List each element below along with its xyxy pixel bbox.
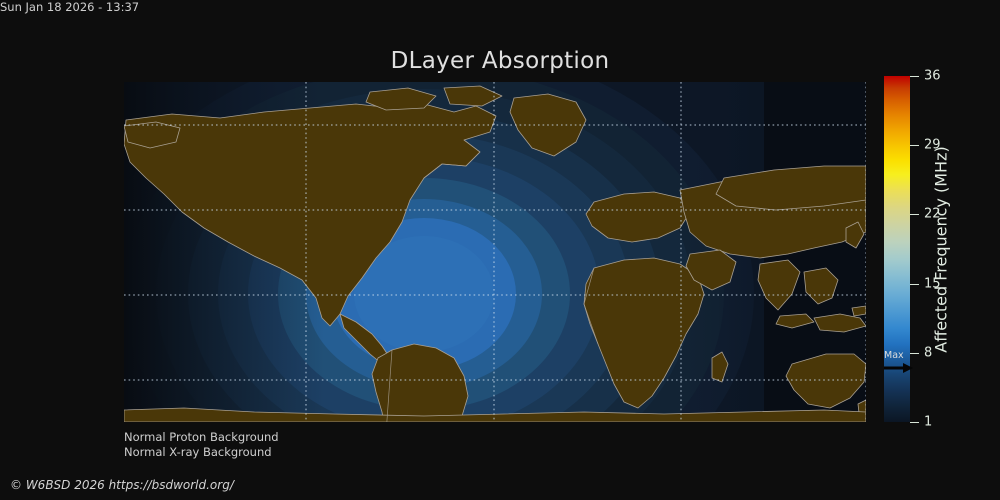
arrow-right-icon xyxy=(883,362,913,374)
page-title: DLayer Absorption xyxy=(0,48,1000,74)
colorbar-axis-label-text: Affected Frequency (MHz) xyxy=(932,146,951,352)
colorbar-tick xyxy=(910,145,919,146)
max-absorption-marker: Max xyxy=(884,351,914,377)
max-marker-label: Max xyxy=(884,351,904,361)
colorbar-axis-label: Affected Frequency (MHz) xyxy=(930,76,952,422)
map-canvas xyxy=(124,82,866,422)
timestamp: Sun Jan 18 2026 - 13:37 xyxy=(0,0,1000,14)
colorbar-tick xyxy=(910,284,919,285)
world-map xyxy=(124,82,866,422)
colorbar-tick xyxy=(910,76,919,77)
proton-background-note: Normal Proton Background xyxy=(124,430,279,444)
colorbar-tick xyxy=(910,422,919,423)
xray-background-note: Normal X-ray Background xyxy=(124,445,272,459)
copyright-notice: © W6BSD 2026 https://bsdworld.org/ xyxy=(10,478,234,492)
colorbar-tick xyxy=(910,214,919,215)
